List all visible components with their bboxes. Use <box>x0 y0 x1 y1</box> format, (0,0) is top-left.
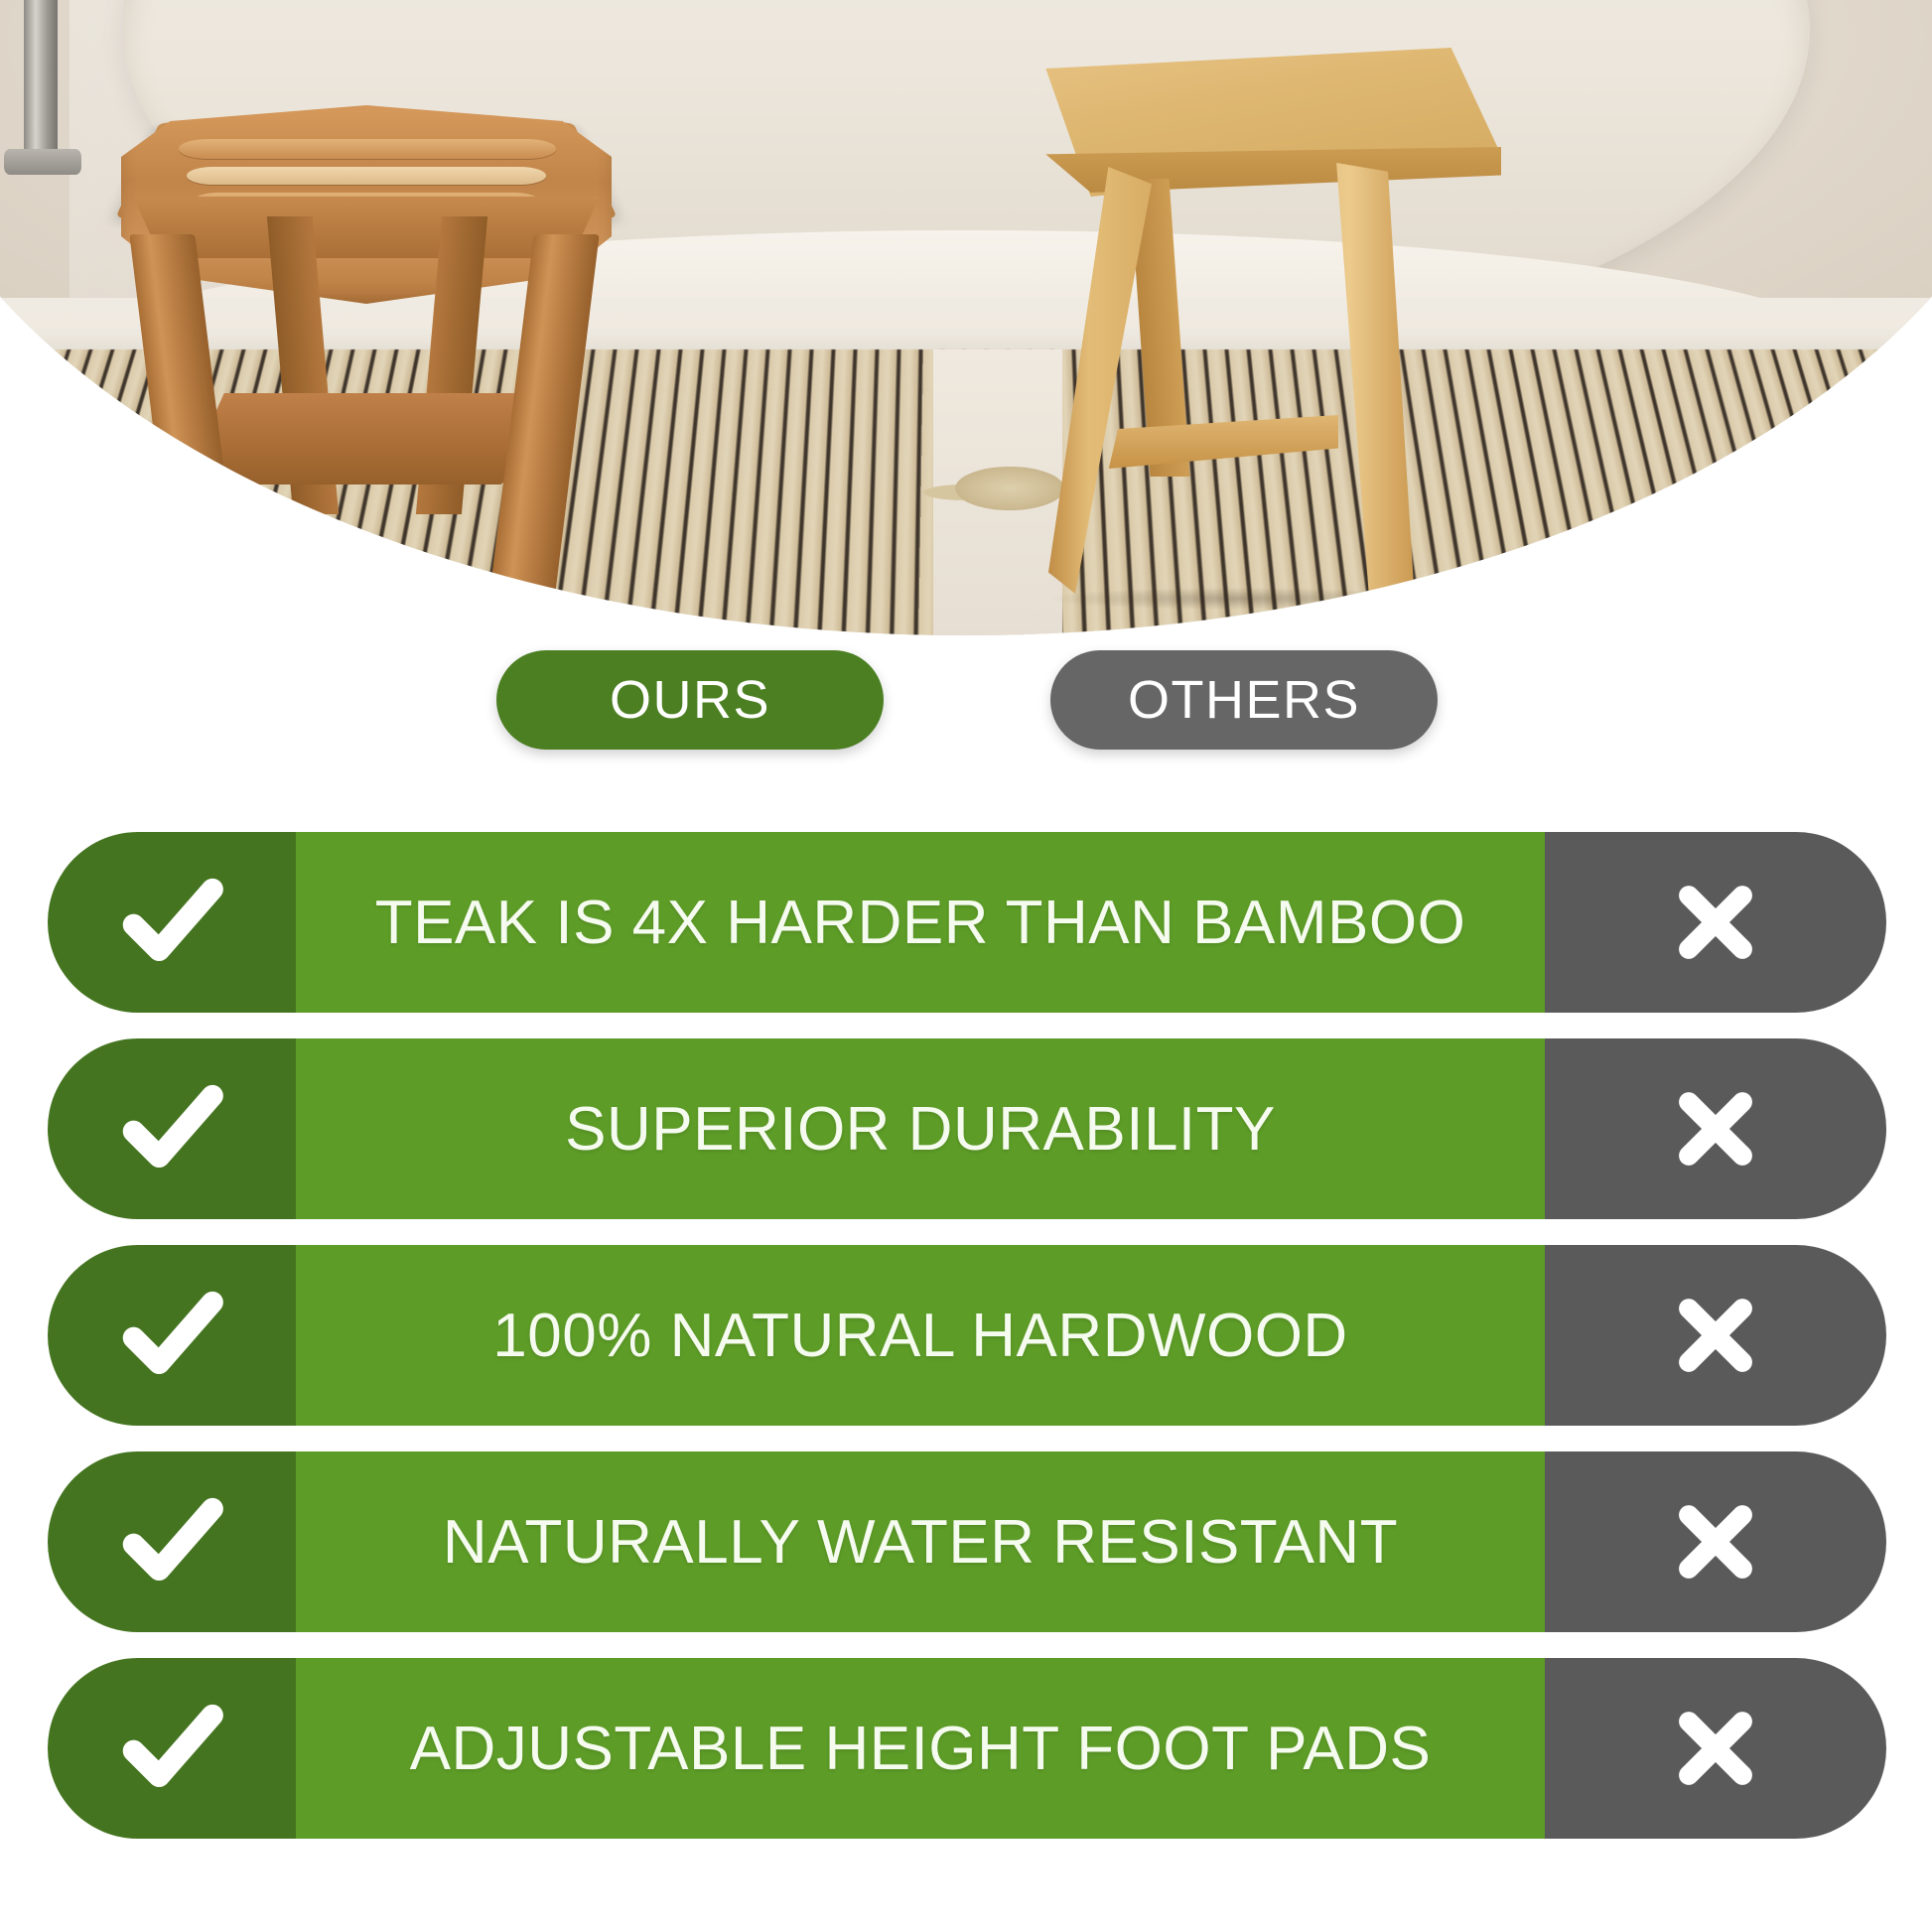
cross-icon <box>1664 1077 1767 1180</box>
ours-cell <box>48 1245 296 1426</box>
product-photo-area <box>0 0 1932 635</box>
teak-seat-slat <box>179 139 556 159</box>
shower-pole-base <box>4 149 81 175</box>
bamboo-leg-right <box>1297 163 1414 600</box>
feature-label-cell: SUPERIOR DURABILITY <box>296 1038 1545 1219</box>
feature-label: TEAK IS 4X HARDER THAN BAMBOO <box>375 888 1466 958</box>
feature-label: 100% NATURAL HARDWOOD <box>492 1301 1347 1371</box>
teak-apron <box>133 197 600 258</box>
others-cell <box>1545 1658 1886 1839</box>
cross-icon <box>1664 1284 1767 1387</box>
cross-icon <box>1664 1697 1767 1800</box>
cross-icon <box>1664 1490 1767 1593</box>
shower-pole <box>24 0 58 164</box>
feature-label: NATURALLY WATER RESISTANT <box>443 1507 1398 1578</box>
badge-others-label: OTHERS <box>1128 669 1360 731</box>
comparison-row: NATURALLY WATER RESISTANT <box>48 1451 1886 1632</box>
bamboo-seat-edge <box>1001 147 1501 193</box>
teak-foot-notch <box>171 570 224 604</box>
check-icon <box>108 1478 235 1605</box>
feature-label: SUPERIOR DURABILITY <box>565 1094 1276 1165</box>
comparison-infographic: OURS OTHERS TEAK IS 4X HARDER THAN BAMBO… <box>0 0 1932 1932</box>
ours-cell <box>48 832 296 1013</box>
badge-others: OTHERS <box>1050 650 1438 750</box>
ours-cell <box>48 1658 296 1839</box>
check-icon <box>108 1065 235 1192</box>
bamboo-stool-shadow <box>1052 588 1430 610</box>
badge-ours: OURS <box>496 650 884 750</box>
bamboo-stool <box>993 40 1509 606</box>
check-icon <box>108 859 235 986</box>
ours-cell <box>48 1038 296 1219</box>
comparison-row: ADJUSTABLE HEIGHT FOOT PADS <box>48 1658 1886 1839</box>
comparison-row: 100% NATURAL HARDWOOD <box>48 1245 1886 1426</box>
others-cell <box>1545 1245 1886 1426</box>
teak-lower-shelf <box>197 393 542 484</box>
cross-icon <box>1664 871 1767 974</box>
photo-clip <box>0 0 1932 635</box>
comparison-rows: TEAK IS 4X HARDER THAN BAMBOO SUPERIOR D… <box>0 832 1932 1904</box>
feature-label-cell: TEAK IS 4X HARDER THAN BAMBOO <box>296 832 1545 1013</box>
others-cell <box>1545 1038 1886 1219</box>
feature-label-cell: NATURALLY WATER RESISTANT <box>296 1451 1545 1632</box>
check-icon <box>108 1272 235 1399</box>
comparison-row: SUPERIOR DURABILITY <box>48 1038 1886 1219</box>
bamboo-leg-left <box>1048 167 1152 594</box>
feature-label-cell: 100% NATURAL HARDWOOD <box>296 1245 1545 1426</box>
feature-label-cell: ADJUSTABLE HEIGHT FOOT PADS <box>296 1658 1545 1839</box>
comparison-row: TEAK IS 4X HARDER THAN BAMBOO <box>48 832 1886 1013</box>
teak-stool <box>109 22 625 618</box>
ours-cell <box>48 1451 296 1632</box>
teak-stool-shadow <box>167 606 594 631</box>
badge-row: OURS OTHERS <box>0 650 1932 764</box>
feature-label: ADJUSTABLE HEIGHT FOOT PADS <box>410 1714 1432 1784</box>
others-cell <box>1545 832 1886 1013</box>
check-icon <box>108 1685 235 1812</box>
others-cell <box>1545 1451 1886 1632</box>
teak-seat-slat <box>187 167 546 185</box>
badge-ours-label: OURS <box>610 669 770 731</box>
bamboo-cross-rail <box>1104 415 1338 469</box>
